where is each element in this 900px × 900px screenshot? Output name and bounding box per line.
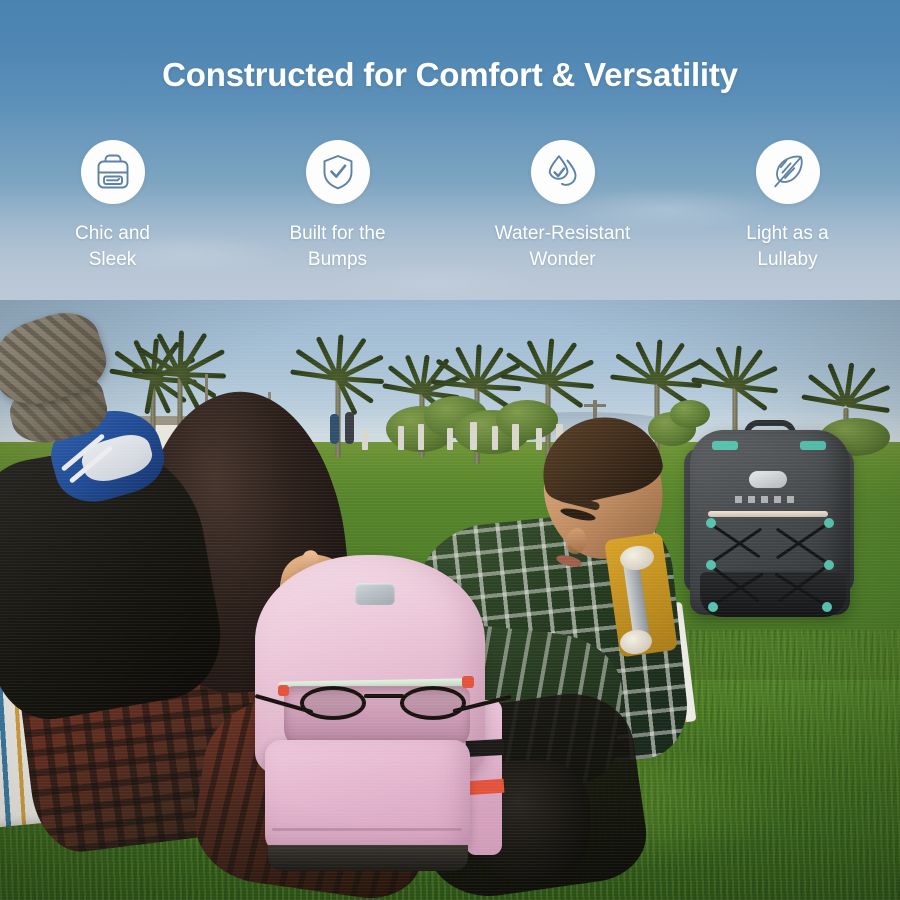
gray-backpack-wordmark xyxy=(735,496,799,503)
feature-label-line1: Built for the xyxy=(289,223,385,244)
pink-backpack-logo xyxy=(355,583,395,605)
feather-icon xyxy=(756,140,820,204)
gray-backpack-zipper xyxy=(708,511,828,517)
pink-backpack-orange-trim xyxy=(466,779,505,796)
fence-post xyxy=(447,428,453,450)
promo-banner: Constructed for Comfort & Versatility Ch… xyxy=(0,0,900,900)
topiary-bush xyxy=(670,400,710,428)
backpack-icon xyxy=(81,140,145,204)
feature-label-line1: Chic and xyxy=(75,223,150,244)
fence-post xyxy=(418,424,424,450)
feature-item-water-resistant-wonder[interactable]: Water-Resistant Wonder xyxy=(450,140,675,273)
water-drop-check-icon xyxy=(531,140,595,204)
topiary-bush xyxy=(496,400,558,440)
eyeglass-lens xyxy=(400,686,466,720)
eyeglasses xyxy=(300,680,470,734)
gray-backpack-teal-accent xyxy=(800,441,826,450)
feature-list: Chic and Sleek Built for the Bumps xyxy=(0,140,900,273)
pink-backpack-black-trim xyxy=(466,739,505,757)
fence-post xyxy=(362,430,368,450)
fence-post xyxy=(536,428,542,450)
feature-label-line2: Sleek xyxy=(89,249,137,270)
pink-backpack-zipper-pull xyxy=(462,676,474,688)
eyeglass-bridge xyxy=(364,694,404,698)
feature-item-built-for-the-bumps[interactable]: Built for the Bumps xyxy=(225,140,450,273)
feature-label-line2: Lullaby xyxy=(757,249,817,270)
shield-check-icon xyxy=(306,140,370,204)
feature-label-line2: Bumps xyxy=(308,249,367,270)
fence-post xyxy=(492,426,498,450)
pink-backpack-seam xyxy=(272,828,462,831)
feature-item-chic-and-sleek[interactable]: Chic and Sleek xyxy=(0,140,225,273)
pink-backpack-front-pocket xyxy=(265,740,470,855)
gray-backpack-logo xyxy=(749,471,787,488)
pink-backpack-zipper-pull xyxy=(278,685,289,696)
feature-label: Built for the Bumps xyxy=(253,221,423,273)
utility-pole-crossbar xyxy=(584,404,606,407)
feature-label: Chic and Sleek xyxy=(28,221,198,273)
gray-backpack-teal-accent xyxy=(712,441,738,450)
lifestyle-photo xyxy=(0,300,900,900)
eyeglass-lens xyxy=(300,686,366,720)
fence-post xyxy=(512,424,519,450)
feature-label-line2: Wonder xyxy=(529,249,595,270)
fence-post xyxy=(470,422,477,450)
page-title: Constructed for Comfort & Versatility xyxy=(0,55,900,95)
background-person xyxy=(330,414,339,444)
feature-label: Water-Resistant Wonder xyxy=(478,221,648,273)
feature-item-light-as-a-lullaby[interactable]: Light as a Lullaby xyxy=(675,140,900,273)
pink-backpack-base xyxy=(268,845,468,871)
feature-label: Light as a Lullaby xyxy=(703,221,873,273)
feature-label-line1: Water-Resistant xyxy=(495,223,631,244)
fence-post xyxy=(398,426,404,450)
gray-backpack-bungee-cord xyxy=(706,518,832,610)
background-person xyxy=(345,412,354,444)
feature-label-line1: Light as a xyxy=(746,223,828,244)
